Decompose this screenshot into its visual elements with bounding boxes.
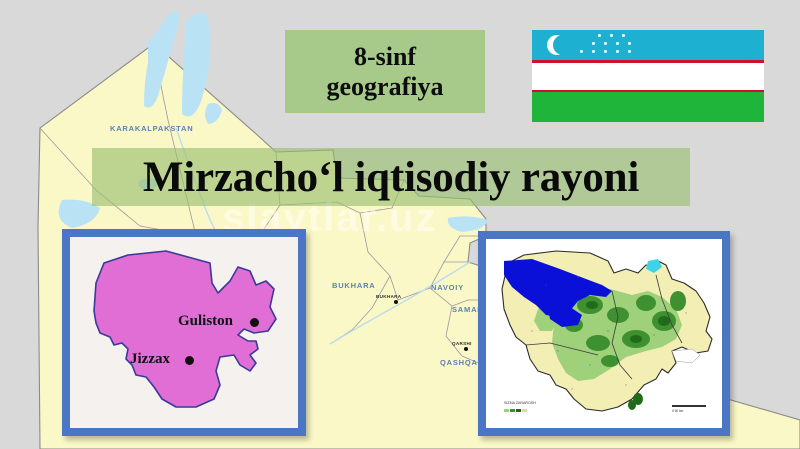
title-banner: Mirzacho‘l iqtisodiy rayoni — [92, 148, 690, 206]
scalebar — [672, 405, 706, 407]
flag-stars-group — [574, 34, 636, 56]
flag-band-white — [532, 63, 764, 90]
crescent-icon — [547, 35, 567, 55]
inset-physical-map: SIZMA ZARAROSH 0 50 km — [478, 231, 730, 436]
inset-right-canvas: SIZMA ZARAROSH 0 50 km — [486, 239, 722, 428]
scalebar-label: 0 50 km — [672, 409, 683, 413]
inset-left-canvas: Guliston Jizzax — [70, 237, 298, 428]
subject-name: geografiya — [327, 72, 444, 101]
subject-box: 8-sinf geografiya — [285, 30, 485, 113]
slide-canvas: KARAKALPAKSTAN BUKHARA NAVOIY SAMARQAND … — [0, 0, 800, 449]
city-dot-bukhara — [394, 300, 398, 304]
flag-band-green — [532, 92, 764, 122]
inset-mirzachol-region-map: Guliston Jizzax — [62, 229, 306, 436]
inset-city-label-jizzax: Jizzax — [130, 351, 170, 368]
page-title: Mirzacho‘l iqtisodiy rayoni — [143, 153, 639, 202]
city-dot-qarshi — [464, 347, 468, 351]
legend-swatches — [504, 409, 527, 412]
legend-title: SIZMA ZARAROSH — [504, 401, 536, 405]
subject-grade: 8-sinf — [354, 42, 416, 71]
inset-city-dot-jizzax — [185, 356, 194, 365]
inset-city-label-guliston: Guliston — [178, 313, 233, 330]
uzbekistan-flag — [532, 30, 764, 122]
inset-city-dot-guliston — [250, 318, 259, 327]
